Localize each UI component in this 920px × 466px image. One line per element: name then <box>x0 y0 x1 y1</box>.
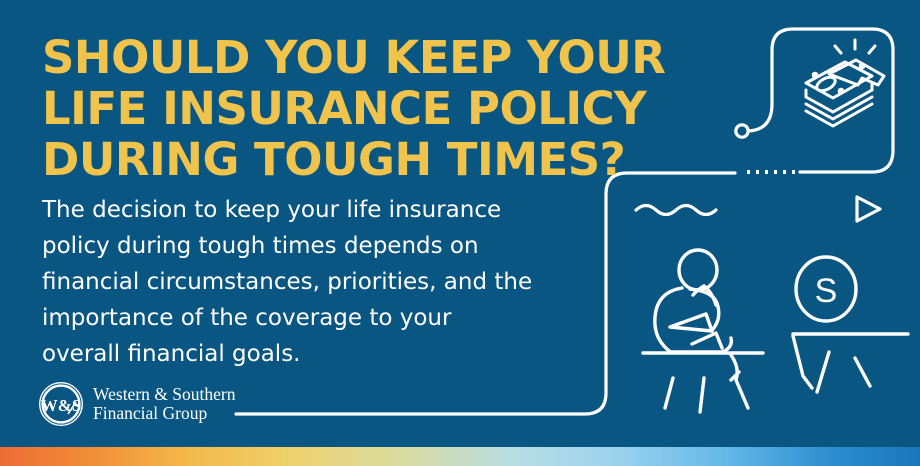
subheading-text: The decision to keep your life insurance… <box>42 192 562 372</box>
money-frame-path <box>748 29 893 172</box>
ws-monogram-text: W&S <box>41 396 82 415</box>
page-title: Should You Keep Your Life Insurance Poli… <box>42 32 682 185</box>
infographic-banner: S Should You Keep Your Life Insurance Po… <box>0 0 920 466</box>
savings-desk-icon <box>793 334 908 392</box>
play-triangle-icon <box>857 197 880 221</box>
brand-name: Western & Southern Financial Group <box>93 385 235 423</box>
gradient-accent-strip <box>0 447 920 466</box>
cash-stack-icon <box>806 40 884 126</box>
ws-monogram-icon: W&S <box>38 381 84 427</box>
s-letter: S <box>815 272 838 310</box>
s-circle-icon: S <box>796 257 856 321</box>
seated-thinking-person-icon <box>643 250 763 412</box>
brand-logo: W&S Western & Southern Financial Group <box>38 381 235 427</box>
squiggle-wave-icon <box>636 206 716 215</box>
circle-endpoint <box>736 125 748 137</box>
